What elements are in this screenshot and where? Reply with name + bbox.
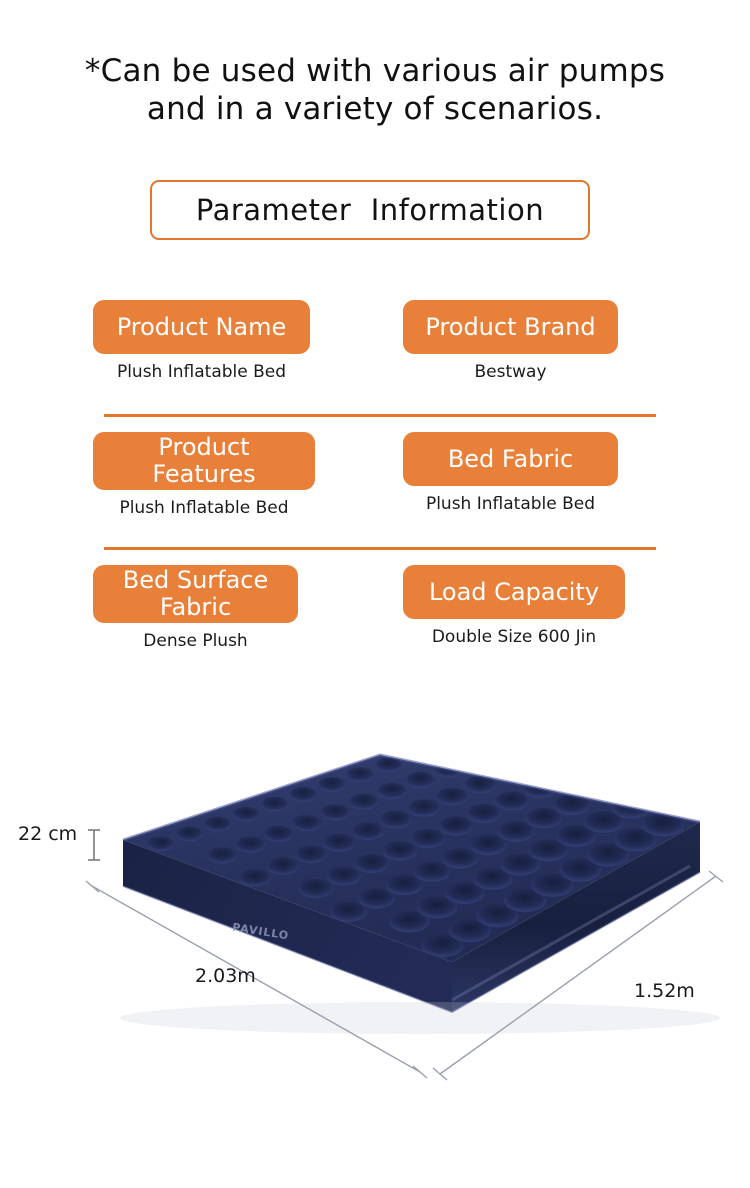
section-title-label: Parameter Information [196,193,544,227]
product-photo: PAVILLO 22 cm 2.03m 1.52m [0,700,750,1130]
parameter-cell: Bed FabricPlush Inflatable Bed [403,432,713,519]
parameter-value: Plush Inflatable Bed [403,493,618,515]
parameter-cell: Bed Surface FabricDense Plush [93,565,403,652]
dimension-length-label: 2.03m [195,965,256,987]
parameter-label-pill: Load Capacity [403,565,625,619]
dimension-width-label: 1.52m [634,980,695,1002]
section-title-box: Parameter Information [150,180,590,240]
parameter-value: Plush Inflatable Bed [93,361,310,383]
height-dimension-line [88,830,100,860]
parameter-cell: Product NamePlush Inflatable Bed [93,300,403,383]
product-infographic-page: *Can be used with various air pumps and … [0,0,750,1188]
parameter-label-pill: Bed Surface Fabric [93,565,298,623]
parameter-value: Bestway [403,361,618,383]
parameter-label-pill: Product Name [93,300,310,354]
headline-line-2: and in a variety of scenarios. [0,90,750,128]
parameter-row: Bed Surface FabricDense PlushLoad Capaci… [0,565,750,652]
row-divider [104,414,656,417]
parameter-cell: Product BrandBestway [403,300,713,383]
parameter-label: Bed Surface Fabric [123,567,269,621]
parameter-label-pill: Product Brand [403,300,618,354]
mattress-illustration [0,700,750,1130]
parameter-label: Bed Fabric [448,446,573,473]
parameter-label-pill: Bed Fabric [403,432,618,486]
parameter-label: Product Name [117,314,287,341]
dimension-height-label: 22 cm [18,823,77,845]
parameter-value: Plush Inflatable Bed [93,497,315,519]
parameter-value: Double Size 600 Jin [403,626,625,648]
parameter-label: Load Capacity [429,579,599,606]
parameter-row: Product FeaturesPlush Inflatable BedBed … [0,432,750,519]
row-divider [104,547,656,550]
parameter-label: Product Features [152,434,255,488]
parameter-cell: Product FeaturesPlush Inflatable Bed [93,432,403,519]
parameter-label-pill: Product Features [93,432,315,490]
parameter-value: Dense Plush [93,630,298,652]
headline-line-1: *Can be used with various air pumps [85,53,665,89]
headline: *Can be used with various air pumps and … [0,52,750,128]
parameter-row: Product NamePlush Inflatable BedProduct … [0,300,750,383]
parameter-label: Product Brand [425,314,595,341]
parameter-cell: Load CapacityDouble Size 600 Jin [403,565,713,652]
